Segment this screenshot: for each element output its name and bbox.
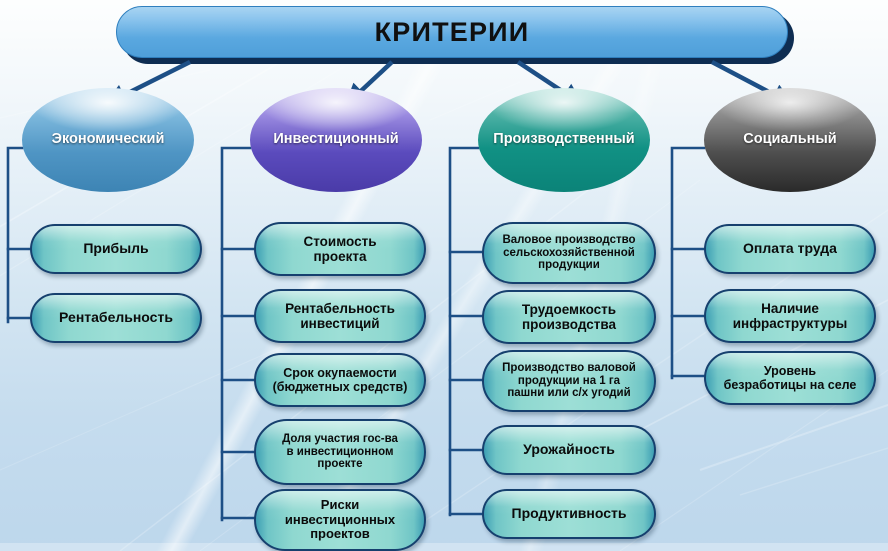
category-label: Производственный [489, 132, 638, 148]
leaf-pill[interactable]: Риски инвестиционных проектов [254, 489, 426, 551]
leaf-pill[interactable]: Уровень безработицы на селе [704, 351, 876, 405]
leaf-pill[interactable]: Срок окупаемости (бюджетных средств) [254, 353, 426, 407]
category-label: Инвестиционный [269, 132, 402, 148]
diagram-canvas: КРИТЕРИИ [0, 0, 888, 551]
leaf-label: Трудоемкость производства [516, 302, 622, 332]
category-label: Экономический [48, 132, 169, 148]
category-economic[interactable]: Экономический [22, 88, 194, 192]
leaf-label: Производство валовой продукции на 1 га п… [496, 362, 642, 401]
bracket-production [450, 148, 478, 515]
bracket-investment [222, 148, 250, 520]
leaf-label: Уровень безработицы на селе [718, 364, 863, 392]
category-social[interactable]: Социальный [704, 88, 876, 192]
leaf-label: Валовое производство сельскохозяйственно… [496, 234, 641, 273]
category-label: Социальный [739, 132, 840, 148]
leaf-label: Рентабельность инвестиций [279, 301, 401, 331]
leaf-pill[interactable]: Прибыль [30, 224, 202, 274]
leaf-pill[interactable]: Продуктивность [482, 489, 656, 539]
leaf-label: Наличие инфраструктуры [727, 301, 854, 331]
background-texture [0, 0, 888, 551]
leaf-pill[interactable]: Доля участия гос-ва в инвестиционном про… [254, 419, 426, 485]
leaf-pill[interactable]: Урожайность [482, 425, 656, 475]
leaf-pill[interactable]: Производство валовой продукции на 1 га п… [482, 350, 656, 412]
leaf-label: Доля участия гос-ва в инвестиционном про… [276, 433, 404, 472]
category-investment[interactable]: Инвестиционный [250, 88, 422, 192]
leaf-label: Срок окупаемости (бюджетных средств) [267, 366, 414, 394]
bracket-social [672, 148, 704, 378]
leaf-pill[interactable]: Оплата труда [704, 224, 876, 274]
diagram-title: КРИТЕРИИ [116, 6, 788, 58]
leaf-label: Продуктивность [506, 506, 633, 522]
leaf-pill[interactable]: Стоимость проекта [254, 222, 426, 276]
leaf-pill[interactable]: Трудоемкость производства [482, 290, 656, 344]
leaf-label: Рентабельность [53, 310, 179, 326]
leaf-pill[interactable]: Рентабельность инвестиций [254, 289, 426, 343]
connectors [0, 0, 888, 551]
leaf-pill[interactable]: Рентабельность [30, 293, 202, 343]
category-production[interactable]: Производственный [478, 88, 650, 192]
arrow-group [108, 62, 790, 103]
bracket-economic [8, 148, 22, 322]
leaf-label: Урожайность [517, 442, 621, 458]
leaf-label: Оплата труда [737, 241, 843, 257]
leaf-label: Риски инвестиционных проектов [279, 498, 401, 542]
page-title: КРИТЕРИИ [375, 17, 530, 48]
leaf-label: Стоимость проекта [297, 234, 382, 264]
leaf-label: Прибыль [77, 241, 154, 257]
leaf-pill[interactable]: Валовое производство сельскохозяйственно… [482, 222, 656, 284]
leaf-pill[interactable]: Наличие инфраструктуры [704, 289, 876, 343]
